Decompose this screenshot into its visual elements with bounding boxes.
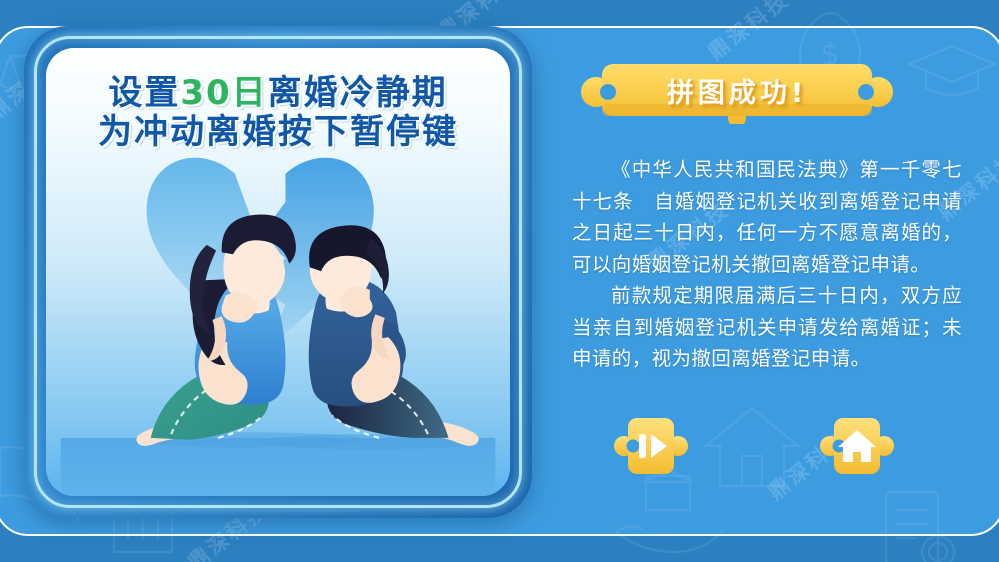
card-content: 设置30日离婚冷静期 为冲动离婚按下暂停键: [46, 48, 510, 496]
headline-prefix: 设置: [108, 73, 180, 113]
page-title: 设置30日离婚冷静期 为冲动离婚按下暂停键: [46, 74, 510, 153]
headline-number: 30日: [180, 73, 267, 113]
couple-back-to-back-broken-heart-illustration: [46, 140, 510, 496]
status-badge: 拼图成功!: [572, 60, 902, 124]
paragraph-2: 前款规定期限届满后三十日内，双方应当亲自到婚姻登记机关申请发给离婚证；未申请的，…: [572, 280, 962, 375]
next-button[interactable]: [614, 412, 688, 480]
home-icon: [820, 412, 894, 480]
action-button-row: [572, 410, 952, 486]
law-article-text: 《中华人民共和国民法典》第一千零七十七条 自婚姻登记机关收到离婚登记申请之日起三…: [572, 154, 962, 375]
man-figure: [309, 225, 479, 446]
headline-line-1: 设置30日离婚冷静期: [46, 74, 510, 113]
home-button[interactable]: [820, 412, 894, 480]
headline-line-2: 为冲动离婚按下暂停键: [46, 113, 510, 152]
app-stage: $: [0, 0, 999, 562]
poster-card: 设置30日离婚冷静期 为冲动离婚按下暂停键: [24, 26, 532, 518]
info-panel: 拼图成功! 《中华人民共和国民法典》第一千零七十七条 自婚姻登记机关收到离婚登记…: [556, 40, 968, 510]
paragraph-1: 《中华人民共和国民法典》第一千零七十七条 自婚姻登记机关收到离婚登记申请之日起三…: [572, 154, 962, 280]
status-badge-label: 拼图成功!: [572, 60, 902, 124]
headline-suffix: 离婚冷静期: [268, 73, 448, 113]
skip-next-icon: [614, 412, 688, 480]
